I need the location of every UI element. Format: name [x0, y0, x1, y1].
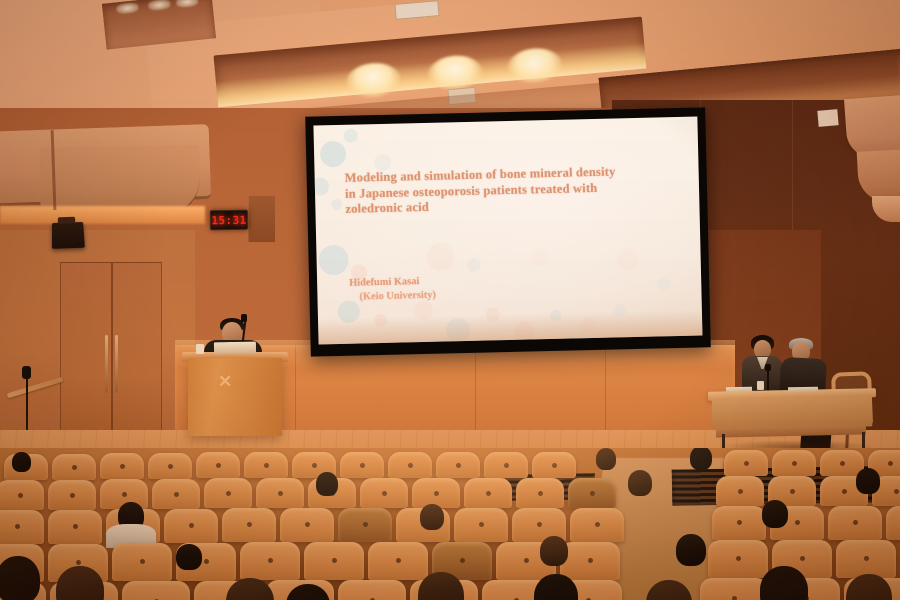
table-papers: [726, 387, 752, 392]
bubble-decor: [657, 277, 670, 290]
seat[interactable]: [724, 450, 768, 476]
door-handle[interactable]: [115, 335, 118, 393]
seat[interactable]: [464, 478, 512, 508]
wall-plate: [248, 196, 275, 242]
table-cup: [757, 381, 764, 390]
seat[interactable]: [836, 540, 896, 578]
seat[interactable]: [304, 542, 364, 580]
seat[interactable]: [772, 450, 816, 476]
seat[interactable]: [484, 452, 528, 478]
seat[interactable]: [708, 540, 768, 578]
seat[interactable]: [338, 508, 392, 542]
attendee-head: [690, 448, 712, 470]
seat[interactable]: [412, 478, 460, 508]
seat[interactable]: [196, 452, 240, 478]
bubble-decor: [318, 245, 349, 276]
seat[interactable]: [560, 542, 620, 580]
seat[interactable]: [454, 508, 508, 542]
seat[interactable]: [360, 478, 408, 508]
bubble-decor: [467, 258, 481, 272]
digital-clock: 15:31: [210, 210, 248, 231]
attendee-head: [540, 536, 568, 566]
seat[interactable]: [280, 508, 334, 542]
seat[interactable]: [52, 454, 96, 480]
auditorium-photo: 15:31 Mod: [0, 0, 900, 600]
seat[interactable]: [48, 480, 96, 510]
seat[interactable]: [828, 506, 882, 540]
seat[interactable]: [222, 508, 276, 542]
clock-time: 15:31: [211, 213, 246, 227]
seat[interactable]: [164, 509, 218, 543]
podium-papers: [214, 342, 256, 355]
door-handle[interactable]: [105, 335, 108, 393]
table-microphone-head-icon: [765, 364, 771, 371]
attendee-head-foreground: [0, 556, 40, 600]
attendee-head: [762, 500, 788, 528]
exit-doors[interactable]: [60, 262, 162, 454]
seat[interactable]: [338, 580, 406, 600]
seat[interactable]: [112, 543, 172, 581]
seat[interactable]: [886, 506, 900, 540]
seat[interactable]: [700, 578, 768, 600]
seat[interactable]: [152, 479, 200, 509]
seat[interactable]: [340, 452, 384, 478]
attendee-head-foreground: [176, 544, 202, 570]
seat[interactable]: [712, 506, 766, 540]
slide-affiliation: (Keio University): [359, 289, 436, 305]
seat[interactable]: [0, 510, 44, 544]
seat[interactable]: [516, 478, 564, 508]
seat[interactable]: [368, 542, 428, 580]
microphone-icon: [22, 366, 31, 379]
attendee-head: [420, 504, 444, 530]
attendee-head: [628, 470, 652, 496]
attendee-head: [676, 534, 706, 566]
seat[interactable]: [568, 478, 616, 508]
seat[interactable]: [148, 453, 192, 479]
seat[interactable]: [716, 476, 764, 506]
seat[interactable]: [570, 508, 624, 542]
slide-surface: Modeling and simulation of bone mineral …: [313, 117, 702, 345]
table-microphone: [767, 368, 769, 392]
audience-seating: [0, 448, 900, 600]
table-papers: [788, 387, 818, 393]
slide-author-name: Hidefumi Kasai: [349, 276, 419, 289]
podium: ✕: [188, 358, 282, 436]
seat[interactable]: [240, 542, 300, 580]
seat[interactable]: [100, 453, 144, 479]
projection-screen: Modeling and simulation of bone mineral …: [305, 107, 711, 356]
slide-author-block: Hidefumi Kasai (Keio University): [349, 275, 436, 305]
seat[interactable]: [122, 581, 190, 600]
bubble-decor: [313, 177, 329, 195]
seat[interactable]: [532, 452, 576, 478]
seat[interactable]: [0, 480, 44, 510]
bubble-decor: [331, 199, 342, 210]
bubble-decor: [344, 129, 358, 143]
bubble-decor: [320, 141, 347, 168]
bubble-decor: [616, 248, 639, 271]
loudspeaker-box: [52, 222, 85, 249]
bubble-decor: [374, 154, 391, 171]
bubble-decor: [530, 248, 548, 266]
seat[interactable]: [388, 452, 432, 478]
seat[interactable]: [48, 510, 102, 544]
attendee-head: [12, 452, 31, 472]
podium-microphone-head-icon: [241, 314, 247, 322]
slide-title: Modeling and simulation of bone mineral …: [345, 163, 676, 217]
right-wall-trim: [817, 109, 838, 127]
balcony-underlight-left: [0, 206, 205, 224]
seat[interactable]: [436, 452, 480, 478]
seat[interactable]: [256, 478, 304, 508]
attendee-head: [856, 468, 880, 494]
bubble-decor: [426, 242, 455, 271]
podium-logo-icon: ✕: [218, 374, 234, 390]
seat[interactable]: [244, 452, 288, 478]
podium-cup: [196, 344, 204, 354]
attendee-head: [316, 472, 338, 496]
seat[interactable]: [204, 478, 252, 508]
attendee-head: [596, 448, 616, 470]
